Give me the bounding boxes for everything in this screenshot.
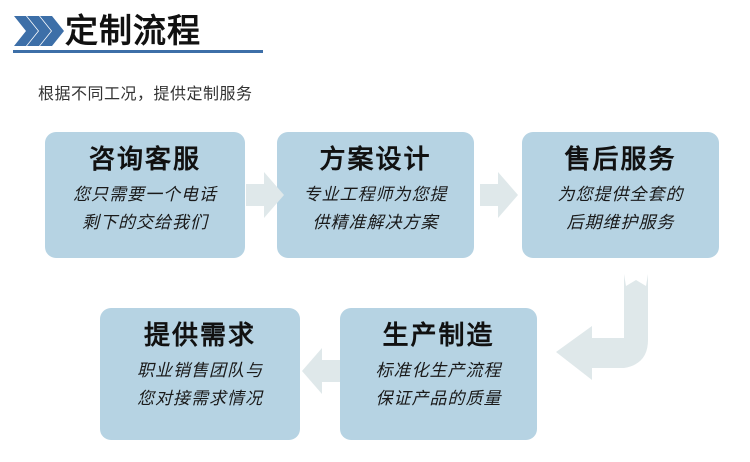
- page-subtitle: 根据不同工况，提供定制服务: [38, 80, 253, 104]
- step-description: 职业销售团队与 您对接需求情况: [100, 357, 300, 413]
- page-title: 定制流程: [65, 8, 201, 54]
- step-title: 咨询客服: [45, 141, 245, 177]
- step-description: 专业工程师为您提 供精准解决方案: [277, 181, 474, 237]
- step-description-line: 剩下的交给我们: [45, 209, 245, 237]
- step-title: 方案设计: [277, 141, 474, 177]
- step-description-line: 保证产品的质量: [340, 385, 537, 413]
- arrow-left-icon: [298, 344, 342, 398]
- step-title: 生产制造: [340, 317, 537, 353]
- step-description: 您只需要一个电话 剩下的交给我们: [45, 181, 245, 237]
- step-card-requirements[interactable]: 提供需求 职业销售团队与 您对接需求情况: [100, 308, 300, 440]
- step-card-design[interactable]: 方案设计 专业工程师为您提 供精准解决方案: [277, 132, 474, 258]
- title-underline: [13, 50, 263, 53]
- step-description-line: 职业销售团队与: [100, 357, 300, 385]
- step-description-line: 您只需要一个电话: [45, 181, 245, 209]
- step-description-line: 专业工程师为您提: [277, 181, 474, 209]
- step-description-line: 您对接需求情况: [100, 385, 300, 413]
- step-title: 提供需求: [100, 317, 300, 353]
- arrow-right-icon: [244, 168, 286, 222]
- triple-chevron-icon: [13, 14, 59, 48]
- step-description-line: 为您提供全套的: [522, 181, 719, 209]
- step-description: 标准化生产流程 保证产品的质量: [340, 357, 537, 413]
- arrow-right-icon: [478, 168, 520, 222]
- arrow-uturn-down-left-icon: [548, 272, 676, 382]
- step-description-line: 标准化生产流程: [340, 357, 537, 385]
- custom-process-page: 定制流程 根据不同工况，提供定制服务 咨询客服 您只需要一个电话 剩下的交给我们…: [0, 0, 750, 462]
- step-card-manufacturing[interactable]: 生产制造 标准化生产流程 保证产品的质量: [340, 308, 537, 440]
- step-description: 为您提供全套的 后期维护服务: [522, 181, 719, 237]
- step-card-aftersales[interactable]: 售后服务 为您提供全套的 后期维护服务: [522, 132, 719, 258]
- step-description-line: 供精准解决方案: [277, 209, 474, 237]
- step-title: 售后服务: [522, 141, 719, 177]
- step-card-consult[interactable]: 咨询客服 您只需要一个电话 剩下的交给我们: [45, 132, 245, 258]
- step-description-line: 后期维护服务: [522, 209, 719, 237]
